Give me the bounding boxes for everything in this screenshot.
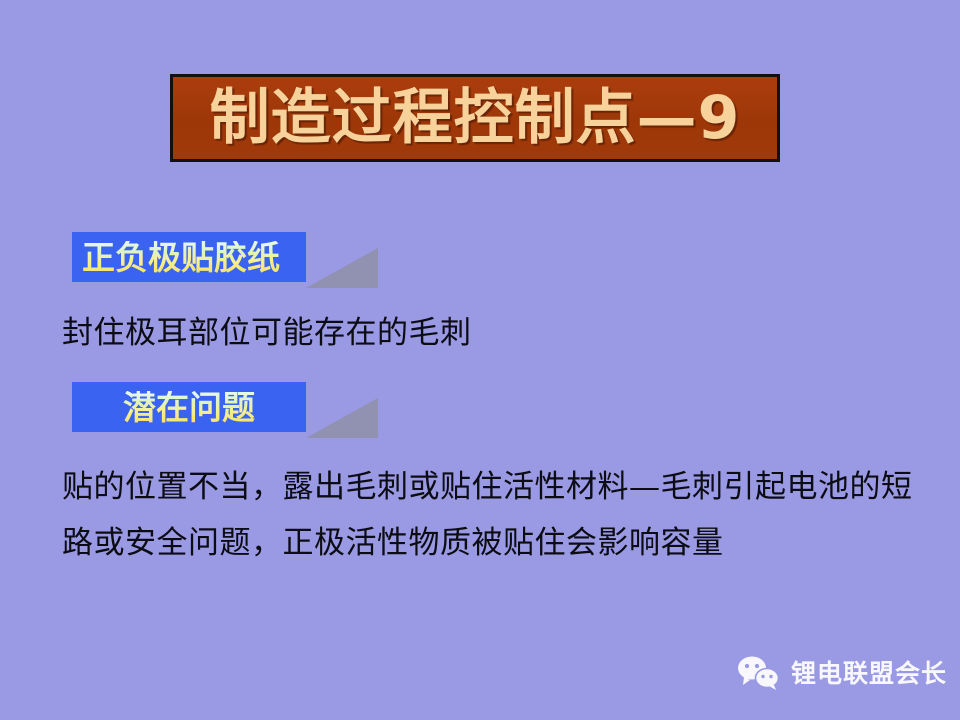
watermark-label: 锂电联盟会长 <box>791 661 947 686</box>
caption-label-potential-problem: 潜在问题 <box>123 391 255 424</box>
section-2-body-line-1: 贴的位置不当，露出毛刺或贴住活性材料—毛刺引起电池的短 <box>62 472 913 503</box>
section-1-caption-row: 正负极贴胶纸 <box>72 232 306 282</box>
caption-label-positive-negative-tape: 正负极贴胶纸 <box>82 241 280 274</box>
watermark: 锂电联盟会长 <box>735 655 947 691</box>
caption-box-positive-negative-tape: 正负极贴胶纸 <box>72 232 306 282</box>
caption-arrow-shadow-icon <box>306 392 378 438</box>
caption-arrow-shadow-icon <box>306 242 378 288</box>
slide-title-banner: 制造过程控制点—9 <box>170 74 780 162</box>
section-2-body-line-2: 路或安全问题，正极活性物质被贴住会影响容量 <box>62 528 724 559</box>
section-2-caption-row: 潜在问题 <box>72 382 306 432</box>
wechat-icon <box>735 655 781 691</box>
slide-canvas: 制造过程控制点—9 正负极贴胶纸 封住极耳部位可能存在的毛刺 潜在问题 贴的位置… <box>0 0 960 720</box>
caption-box-potential-problem: 潜在问题 <box>72 382 306 432</box>
page-title: 制造过程控制点—9 <box>210 88 741 148</box>
section-1-body-text: 封住极耳部位可能存在的毛刺 <box>62 318 472 349</box>
